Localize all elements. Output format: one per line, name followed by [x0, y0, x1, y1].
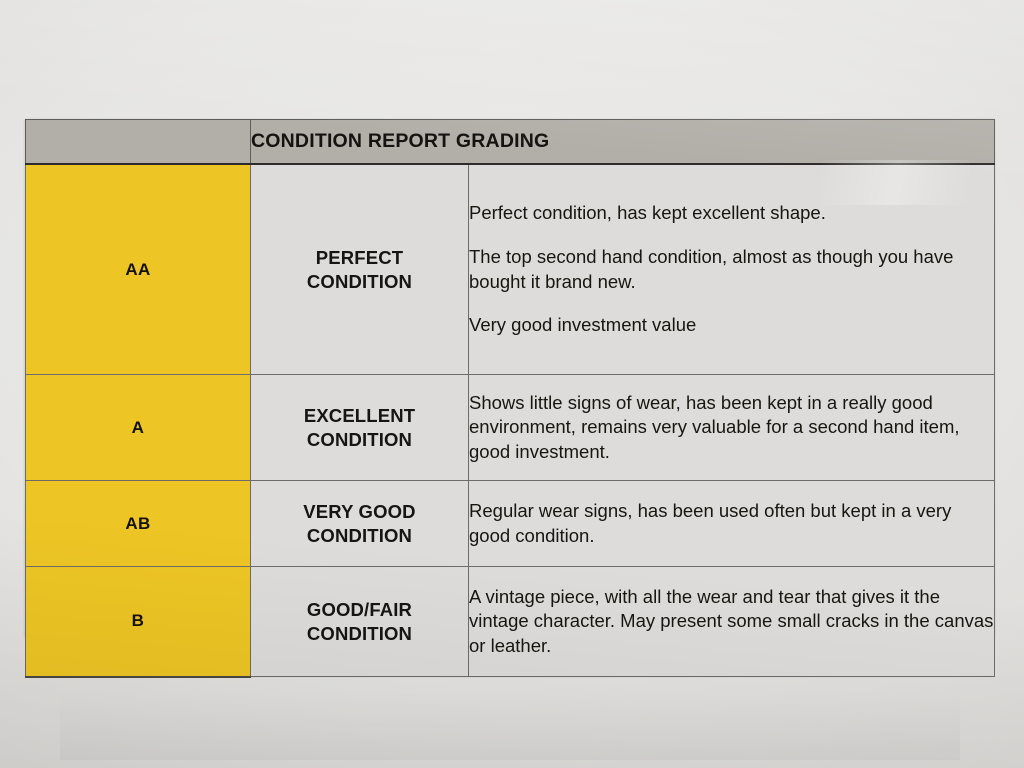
condition-label-line-1: VERY GOOD: [251, 500, 468, 524]
condition-label-line-2: CONDITION: [251, 270, 468, 294]
description-paragraph: Very good investment value: [469, 313, 994, 338]
condition-label-line-1: GOOD/FAIR: [251, 598, 468, 622]
condition-report-grading-table: CONDITION REPORT GRADING AA PERFECT COND…: [25, 119, 994, 637]
paper-shadow: [60, 690, 960, 760]
condition-label-line-1: EXCELLENT: [251, 404, 468, 428]
condition-label-line-2: CONDITION: [251, 524, 468, 548]
table-row: B GOOD/FAIR CONDITION A vintage piece, w…: [26, 567, 995, 677]
grade-cell-ab: AB: [26, 481, 251, 567]
table-header-row: CONDITION REPORT GRADING: [26, 120, 995, 165]
photographed-page: CONDITION REPORT GRADING AA PERFECT COND…: [0, 0, 1024, 768]
condition-label-aa: PERFECT CONDITION: [251, 164, 469, 375]
description-cell-a: Shows little signs of wear, has been kep…: [469, 375, 995, 481]
description-paragraph: Regular wear signs, has been used often …: [469, 499, 994, 548]
grading-table: CONDITION REPORT GRADING AA PERFECT COND…: [25, 119, 995, 678]
table-row: AB VERY GOOD CONDITION Regular wear sign…: [26, 481, 995, 567]
grade-cell-aa: AA: [26, 164, 251, 375]
description-paragraph: The top second hand condition, almost as…: [469, 245, 994, 294]
condition-label-a: EXCELLENT CONDITION: [251, 375, 469, 481]
description-paragraph: Perfect condition, has kept excellent sh…: [469, 201, 994, 226]
table-row: A EXCELLENT CONDITION Shows little signs…: [26, 375, 995, 481]
header-spacer-cell: [26, 120, 251, 165]
condition-label-line-2: CONDITION: [251, 428, 468, 452]
page-title: CONDITION REPORT GRADING: [251, 120, 995, 165]
grade-cell-a: A: [26, 375, 251, 481]
description-cell-aa: Perfect condition, has kept excellent sh…: [469, 164, 995, 375]
description-cell-b: A vintage piece, with all the wear and t…: [469, 567, 995, 677]
description-paragraph: Shows little signs of wear, has been kep…: [469, 391, 994, 465]
description-cell-ab: Regular wear signs, has been used often …: [469, 481, 995, 567]
condition-label-ab: VERY GOOD CONDITION: [251, 481, 469, 567]
condition-label-line-1: PERFECT: [251, 246, 468, 270]
description-paragraph: A vintage piece, with all the wear and t…: [469, 585, 994, 659]
condition-label-line-2: CONDITION: [251, 622, 468, 646]
condition-label-b: GOOD/FAIR CONDITION: [251, 567, 469, 677]
grade-cell-b: B: [26, 567, 251, 677]
table-row: AA PERFECT CONDITION Perfect condition, …: [26, 164, 995, 375]
